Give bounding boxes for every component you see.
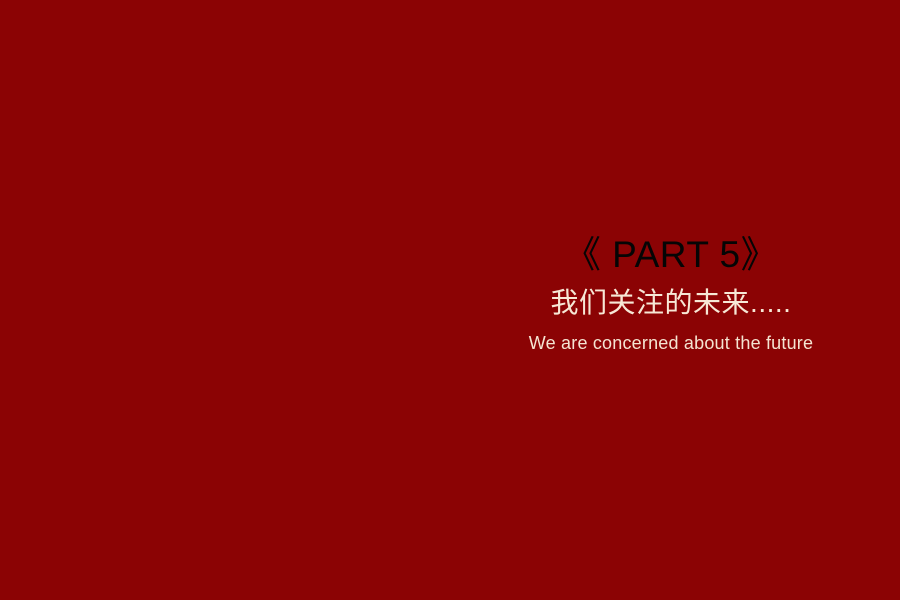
- section-title: 《 PART 5》: [442, 232, 900, 278]
- slide-subtitle-chinese: 我们关注的未来.....: [442, 286, 900, 320]
- presentation-slide: 《 PART 5》 我们关注的未来..... We are concerned …: [0, 0, 900, 600]
- slide-subtitle-english: We are concerned about the future: [442, 331, 900, 355]
- slide-title-block: 《 PART 5》 我们关注的未来..... We are concerned …: [442, 232, 900, 355]
